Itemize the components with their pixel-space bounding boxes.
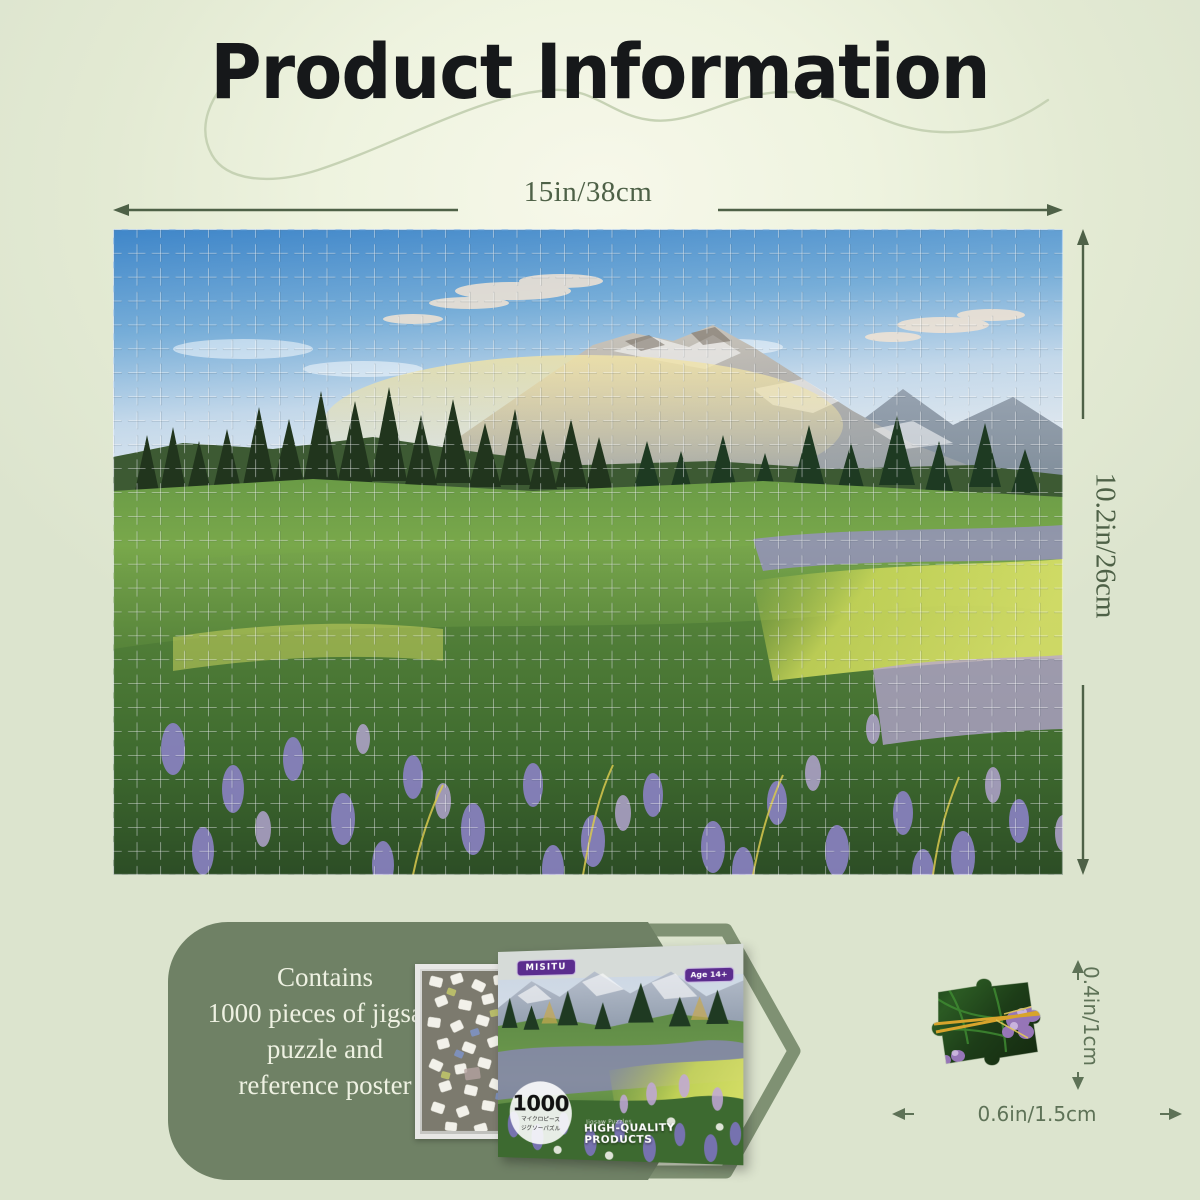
assembled-puzzle-image xyxy=(113,229,1063,875)
product-box-lid: MISITU Age 14+ 1000 マイクロピース ジグソーパズル Jigs… xyxy=(498,944,743,1166)
single-puzzle-piece xyxy=(900,968,1065,1083)
jigsaw-grid-overlay xyxy=(113,229,1063,875)
quality-tagline: HIGH-QUALITY PRODUCTS xyxy=(584,1121,744,1146)
piece-count-japanese-2: ジグソーパズル xyxy=(521,1125,560,1133)
width-dimension-arrow xyxy=(113,200,1063,220)
height-dimension: 10.2in/26cm xyxy=(1062,229,1122,875)
piece-width-label: 0.6in/1.5cm xyxy=(892,1102,1182,1126)
piece-count-japanese-1: マイクロピース xyxy=(521,1116,560,1124)
piece-height-dimension: 0.4in/1cm xyxy=(1068,960,1114,1090)
width-dimension: 15in/38cm xyxy=(113,176,1063,224)
age-badge: Age 14+ xyxy=(684,967,734,983)
piece-width-dimension: 0.6in/1.5cm xyxy=(892,1100,1182,1134)
piece-count-number: 1000 xyxy=(512,1093,569,1115)
height-dimension-label: 10.2in/26cm xyxy=(1089,223,1122,869)
piece-height-label: 0.4in/1cm xyxy=(1079,951,1103,1081)
infographic-page: Product Information 15in/38cm xyxy=(0,0,1200,1200)
brand-badge: MISITU xyxy=(517,959,576,977)
piece-count-badge: 1000 マイクロピース ジグソーパズル xyxy=(510,1081,572,1145)
page-title: Product Information xyxy=(48,34,1152,110)
product-box-photo: MISITU Age 14+ 1000 マイクロピース ジグソーパズル Jigs… xyxy=(415,952,731,1157)
